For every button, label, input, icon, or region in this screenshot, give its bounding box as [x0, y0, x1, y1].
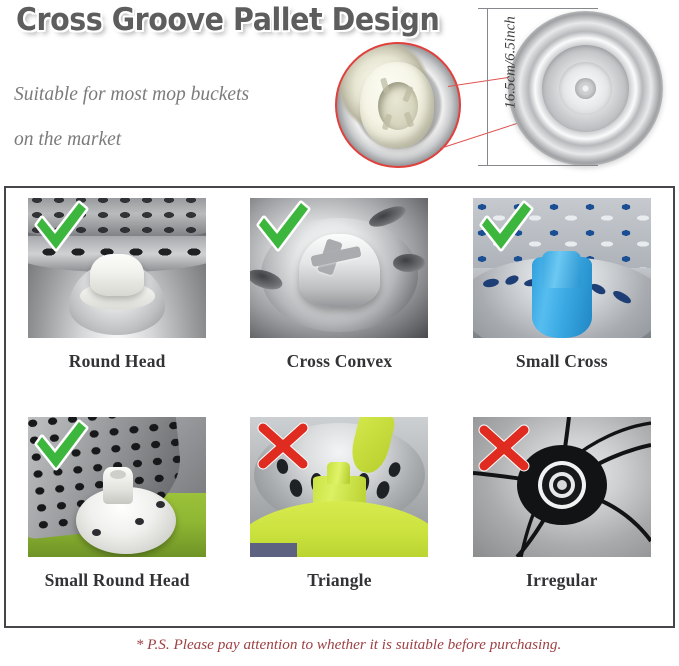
- cell-label-cross-convex: Cross Convex: [287, 351, 393, 372]
- irregular-hub-detail: [538, 461, 586, 509]
- compatibility-cell-small-round-head[interactable]: Small Round Head: [6, 407, 228, 626]
- compatibility-grid: Round Head Cross Convex: [6, 188, 673, 626]
- irregular-photo: [473, 417, 651, 557]
- dimension-cap-bottom: [478, 165, 598, 166]
- small-round-head-stem: [103, 467, 133, 503]
- dimension-line: [487, 8, 488, 166]
- drum-holes: [28, 198, 206, 240]
- dimension-label: 16.5cm/6.5inch: [503, 0, 520, 128]
- cell-label-triangle: Triangle: [307, 570, 371, 591]
- cell-label-round-head: Round Head: [69, 351, 166, 372]
- cross-groove-socket-icon: [360, 62, 434, 148]
- header-section: Cross Groove Pallet Design Suitable for …: [0, 0, 679, 186]
- triangle-photo: [250, 417, 428, 557]
- subtitle-line-2: on the market: [14, 117, 344, 162]
- cross-convex-photo: [250, 198, 428, 338]
- magnified-socket-callout-icon: [335, 42, 461, 168]
- small-round-head-photo: [28, 417, 206, 557]
- compatibility-cell-cross-convex[interactable]: Cross Convex: [228, 188, 450, 407]
- compatibility-cell-round-head[interactable]: Round Head: [6, 188, 228, 407]
- cell-label-small-round-head: Small Round Head: [45, 570, 190, 591]
- drum-dent: [393, 254, 425, 272]
- irregular-fan-graphic: [473, 417, 651, 557]
- small-cross-tip: [542, 251, 581, 287]
- product-pallet-icon: [508, 11, 663, 166]
- cell-label-small-cross: Small Cross: [516, 351, 608, 372]
- round-head-photo: [28, 198, 206, 338]
- compatibility-grid-box: Round Head Cross Convex: [4, 186, 675, 628]
- drum-band-upper: [28, 198, 206, 240]
- pallet-hub: [575, 78, 595, 98]
- small-cross-photo: [473, 198, 651, 338]
- cell-label-irregular: Irregular: [526, 570, 597, 591]
- subtitle-line-1: Suitable for most mop buckets: [14, 84, 249, 105]
- triangle-tip: [327, 462, 350, 484]
- footer-note: * P.S. Please pay attention to whether i…: [0, 636, 679, 654]
- subtitle: Suitable for most mop buckets on the mar…: [14, 72, 344, 162]
- page-title: Cross Groove Pallet Design: [16, 2, 439, 38]
- round-head-knob: [90, 254, 143, 296]
- compatibility-cell-small-cross[interactable]: Small Cross: [451, 188, 673, 407]
- compatibility-cell-triangle[interactable]: Triangle: [228, 407, 450, 626]
- bucket-base-strip: [250, 543, 296, 557]
- plate-hole: [135, 518, 144, 525]
- dimension-cap-top: [478, 8, 598, 9]
- compatibility-cell-irregular[interactable]: Irregular: [451, 407, 673, 626]
